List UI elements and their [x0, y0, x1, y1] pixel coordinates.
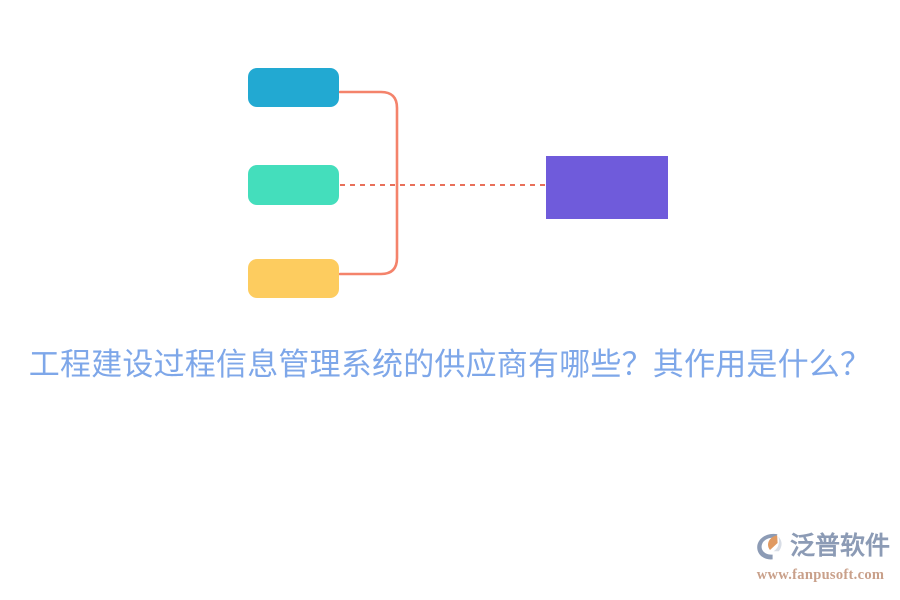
headline-text: 工程建设过程信息管理系统的供应商有哪些？其作用是什么？ [0, 342, 900, 388]
watermark-row: 泛普软件 [753, 526, 888, 566]
fanpu-logo-icon [753, 529, 787, 563]
brand-url: www.fanpusoft.com [753, 567, 888, 584]
brace-connector-path [340, 92, 397, 274]
green-node[interactable] [248, 165, 339, 205]
screenshot-canvas: 工程建设过程信息管理系统的供应商有哪些？其作用是什么？ 泛普软件 www.fan… [0, 0, 900, 600]
purple-node[interactable] [546, 156, 668, 219]
blue-node[interactable] [248, 68, 339, 107]
yellow-node[interactable] [248, 259, 339, 298]
brand-name: 泛普软件 [790, 529, 890, 563]
diagram-area [0, 0, 900, 330]
connector-layer [0, 0, 900, 330]
watermark-logo: 泛普软件 www.fanpusoft.com [753, 526, 888, 588]
